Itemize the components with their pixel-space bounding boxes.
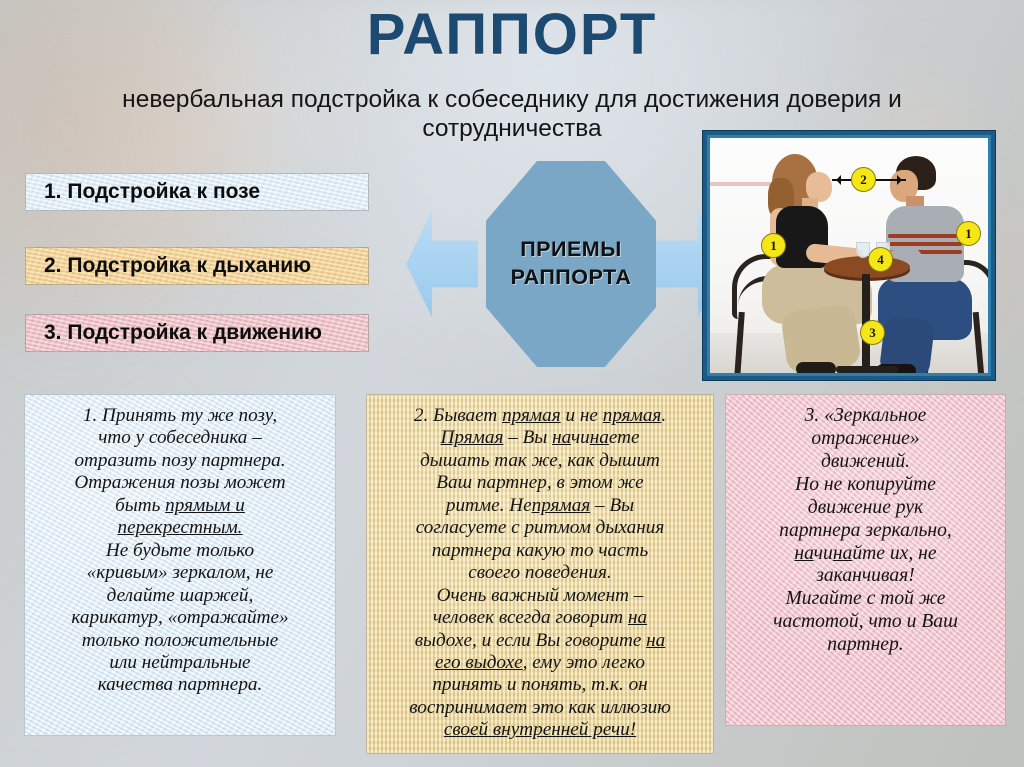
panel-line: своей внутренней речи! [375, 719, 705, 741]
panel-line: отражение» [734, 428, 997, 451]
step-button-posture[interactable]: 1. Подстройка к позе [25, 173, 369, 211]
panel-line: карикатур, «отражайте» [33, 607, 327, 629]
step-button-movement[interactable]: 3. Подстройка к движению [25, 314, 369, 352]
photo-callout-1-left: 1 [761, 233, 786, 258]
panel-line: воспринимает это как иллюзию [375, 697, 705, 719]
panel-line: Не будьте только [33, 540, 327, 562]
panel-line: партнера какую то часть [375, 540, 705, 562]
panel-line: качества партнера. [33, 674, 327, 696]
panel-line: Отражения позы может [33, 472, 327, 494]
step-button-breathing[interactable]: 2. Подстройка к дыханию [25, 247, 369, 285]
photo-callout-4: 4 [868, 247, 893, 272]
photo-callout-2: 2 [851, 167, 876, 192]
panel-movement: 3. «Зеркальноеотражение»движений.Но не к… [726, 395, 1005, 725]
step-button-label: 1. Подстройка к позе [44, 180, 260, 204]
slide-root: РАППОРТ невербальная подстройка к собесе… [0, 0, 1024, 767]
octagon-label: ПРИЕМЫ РАППОРТА [486, 161, 656, 367]
step-button-label: 3. Подстройка к движению [44, 321, 322, 345]
central-octagon: ПРИЕМЫ РАППОРТА [486, 161, 656, 367]
rapport-photo: 1 2 3 4 1 [710, 138, 988, 373]
panel-line: 3. «Зеркальное [734, 405, 997, 428]
octagon-label-line2: РАППОРТА [511, 264, 632, 292]
panel-line: принять и понять, т.к. он [375, 674, 705, 696]
panel-line: движений. [734, 451, 997, 474]
photo-frame: 1 2 3 4 1 [703, 131, 995, 380]
panel-line: что у собеседника – [33, 427, 327, 449]
panel-line: только положительные [33, 630, 327, 652]
panel-line: движение рук [734, 497, 997, 520]
panel-line: выдохе, и если Вы говорите на [375, 630, 705, 652]
panel-line: «кривым» зеркалом, не [33, 562, 327, 584]
panel-line: Мигайте с той же [734, 588, 997, 611]
photo-woman-shoe [796, 362, 836, 373]
step-button-label: 2. Подстройка к дыханию [44, 254, 311, 278]
slide-title: РАППОРТ [0, 6, 1024, 64]
panel-line: заканчивая! [734, 565, 997, 588]
panel-line: частотой, что и Ваш [734, 611, 997, 634]
panel-line: партнер. [734, 634, 997, 657]
photo-table-foot [836, 366, 898, 373]
panel-line: Ваш партнер, в этом же [375, 472, 705, 494]
panel-line: начинайте их, не [734, 543, 997, 566]
panel-line: делайте шаржей, [33, 585, 327, 607]
panel-breathing: 2. Бывает прямая и не прямая.Прямая – Вы… [367, 395, 713, 753]
panel-line: Прямая – Вы начинаете [375, 427, 705, 449]
panel-line: ритме. Непрямая – Вы [375, 495, 705, 517]
panel-line: Очень важный момент – [375, 585, 705, 607]
panel-line: своего поведения. [375, 562, 705, 584]
panel-line: согласуете с ритмом дыхания [375, 517, 705, 539]
panel-line: Но не копируйте [734, 474, 997, 497]
panel-line: 1. Принять ту же позу, [33, 405, 327, 427]
panel-line: 2. Бывает прямая и не прямая. [375, 405, 705, 427]
panel-line: быть прямым и [33, 495, 327, 517]
photo-callout-3: 3 [860, 320, 885, 345]
panel-line: перекрестным. [33, 517, 327, 539]
panel-line: человек всегда говорит на [375, 607, 705, 629]
panel-line: или нейтральные [33, 652, 327, 674]
panel-line: отразить позу партнера. [33, 450, 327, 472]
photo-frame-inner: 1 2 3 4 1 [707, 135, 991, 376]
panel-line: его выдохе, ему это легко [375, 652, 705, 674]
panel-posture: 1. Принять ту же позу,что у собеседника … [25, 395, 335, 735]
octagon-label-line1: ПРИЕМЫ [520, 236, 622, 264]
panel-line: дышать так же, как дышит [375, 450, 705, 472]
panel-line: партнера зеркально, [734, 520, 997, 543]
photo-callout-1-right: 1 [956, 221, 981, 246]
